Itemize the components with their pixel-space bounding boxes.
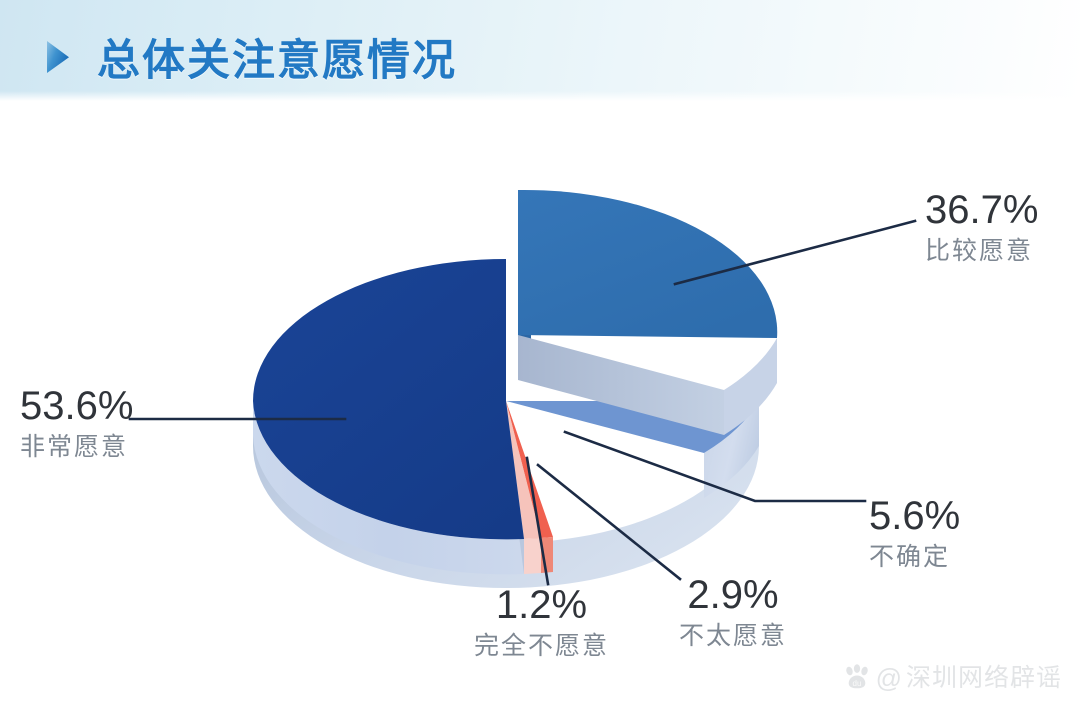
- triangle-right-icon: [46, 40, 70, 74]
- slice-fairly-willing-exploded: [518, 190, 777, 435]
- callout-label: 不太愿意: [679, 621, 787, 651]
- baidu-paw-icon: du: [842, 664, 872, 692]
- page-title: 总体关注意愿情况: [97, 26, 457, 88]
- callout-label: 非常愿意: [20, 432, 133, 462]
- watermark-text: 深圳网络辟谣: [906, 666, 1062, 691]
- callout-value: 2.9%: [679, 574, 787, 616]
- slice-very-willing: [253, 259, 524, 574]
- callout-value: 53.6%: [20, 385, 133, 427]
- watermark: du @ 深圳网络辟谣: [842, 664, 1062, 692]
- callout-value: 1.2%: [474, 584, 609, 626]
- callout-label: 不确定: [869, 542, 960, 572]
- callout-value: 36.7%: [925, 189, 1038, 231]
- pie-chart: 53.6% 非常愿意 36.7% 比较愿意 5.6% 不确定 2.9% 不太愿意…: [0, 101, 1080, 706]
- callout-completely-unwilling: 1.2% 完全不愿意: [474, 584, 609, 661]
- slide-canvas: 总体关注意愿情况: [0, 0, 1080, 706]
- callout-fairly-willing: 36.7% 比较愿意: [925, 189, 1038, 266]
- baidu-du-text: du: [852, 679, 861, 688]
- callout-label: 完全不愿意: [474, 631, 609, 661]
- callout-value: 5.6%: [869, 495, 960, 537]
- callout-very-willing: 53.6% 非常愿意: [20, 385, 133, 462]
- callout-label: 比较愿意: [925, 236, 1038, 266]
- callout-uncertain: 5.6% 不确定: [869, 495, 960, 572]
- callout-not-very-willing: 2.9% 不太愿意: [679, 574, 787, 651]
- watermark-at-symbol: @: [876, 665, 902, 691]
